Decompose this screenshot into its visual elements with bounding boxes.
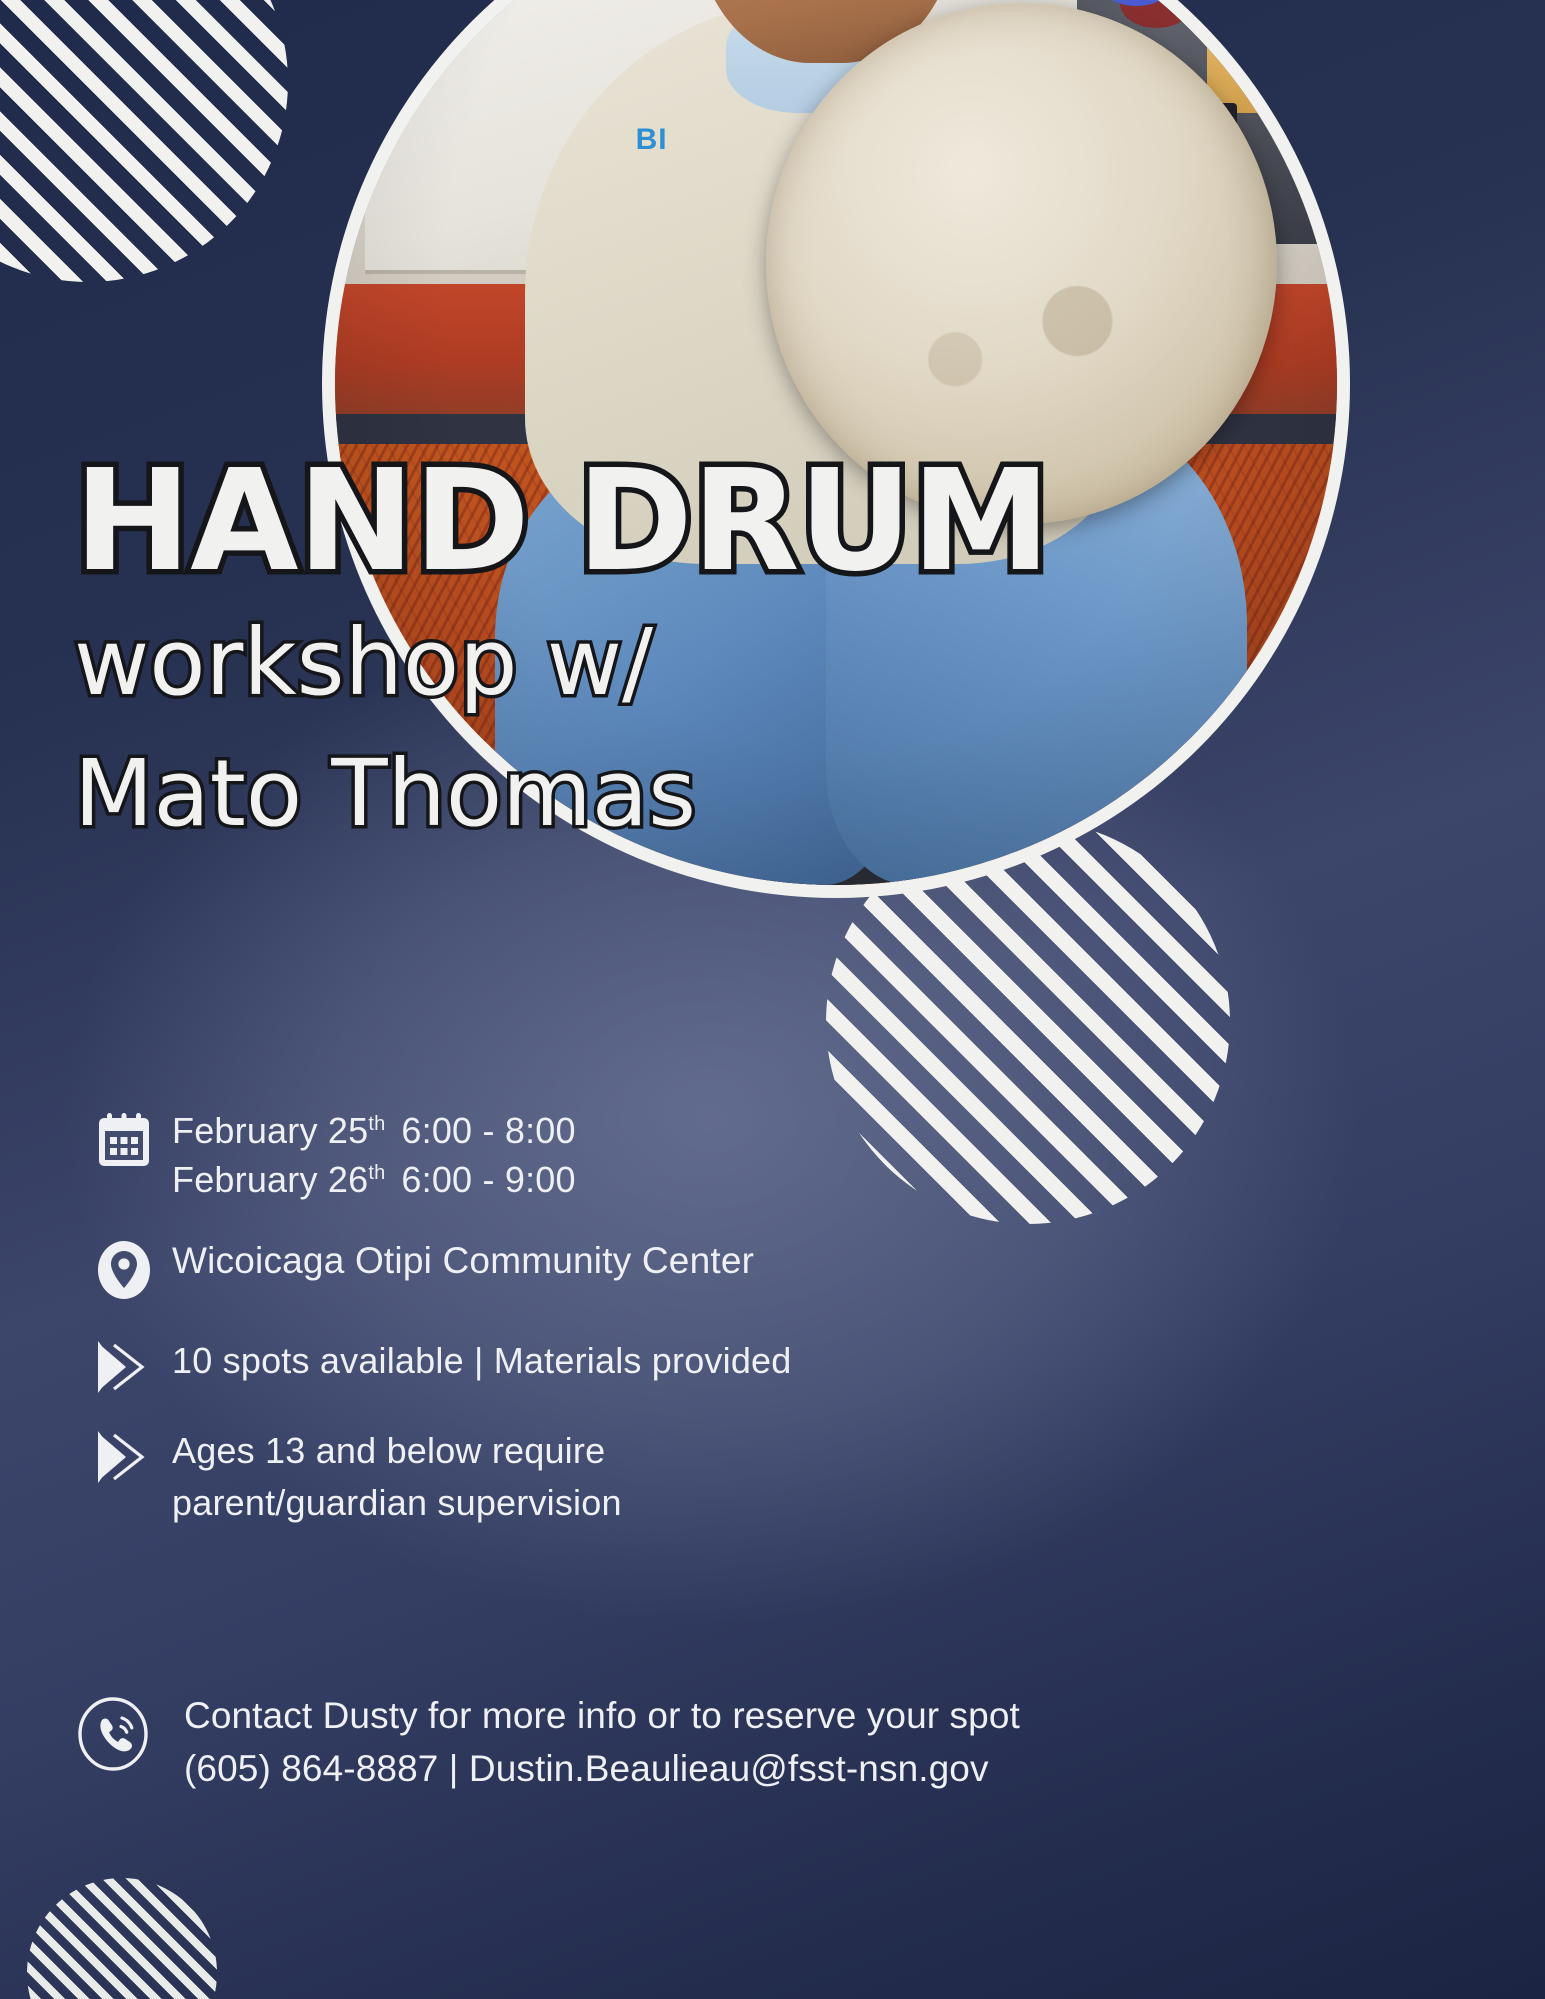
dates-text: February 25th6:00 - 8:00 February 26th6:… xyxy=(172,1107,576,1205)
contact-separator: | xyxy=(438,1748,468,1789)
ordinal-suffix: th xyxy=(368,1162,385,1184)
contact-line-1: Contact Dusty for more info or to reserv… xyxy=(184,1690,1020,1743)
spots-text: 10 spots available | Materials provided xyxy=(172,1335,791,1386)
detail-row-ages: Ages 13 and below require parent/guardia… xyxy=(76,1425,1076,1529)
double-arrow-icon xyxy=(76,1335,172,1395)
location-pin-icon xyxy=(76,1235,172,1301)
poster-title: HAND DRUM xyxy=(74,455,1134,589)
poster-canvas: BI HAND DRUM workshop w/ Mato Thomas xyxy=(0,0,1545,1999)
ages-line-1: Ages 13 and below require xyxy=(172,1425,622,1477)
striped-circle-top-left xyxy=(0,0,288,282)
double-arrow-icon xyxy=(76,1425,172,1485)
detail-row-dates: February 25th6:00 - 8:00 February 26th6:… xyxy=(76,1107,1076,1205)
ordinal-suffix: th xyxy=(368,1113,385,1135)
details-list: February 25th6:00 - 8:00 February 26th6:… xyxy=(76,1107,1076,1559)
contact-block: Contact Dusty for more info or to reserv… xyxy=(76,1690,1276,1795)
ages-line-2: parent/guardian supervision xyxy=(172,1477,622,1529)
detail-row-spots: 10 spots available | Materials provided xyxy=(76,1335,1076,1395)
poster-subtitle-line2: Mato Thomas xyxy=(74,738,1134,850)
ages-text: Ages 13 and below require parent/guardia… xyxy=(172,1425,622,1529)
location-text: Wicoicaga Otipi Community Center xyxy=(172,1235,754,1288)
phone-icon xyxy=(76,1690,184,1772)
detail-row-location: Wicoicaga Otipi Community Center xyxy=(76,1235,1076,1301)
calendar-icon xyxy=(76,1107,172,1169)
date-line-2: February 26th6:00 - 9:00 xyxy=(172,1156,576,1205)
contact-line-2: (605) 864-8887 | Dustin.Beaulieau@fsst-n… xyxy=(184,1743,1020,1796)
striped-circle-bottom-left xyxy=(27,1878,217,1999)
headline-block: HAND DRUM workshop w/ Mato Thomas xyxy=(74,455,1134,850)
contact-email[interactable]: Dustin.Beaulieau@fsst-nsn.gov xyxy=(469,1748,989,1789)
contact-text: Contact Dusty for more info or to reserv… xyxy=(184,1690,1020,1795)
date-line-1: February 25th6:00 - 8:00 xyxy=(172,1107,576,1156)
contact-phone[interactable]: (605) 864-8887 xyxy=(184,1748,438,1789)
poster-subtitle-line1: workshop w/ xyxy=(74,607,1134,719)
